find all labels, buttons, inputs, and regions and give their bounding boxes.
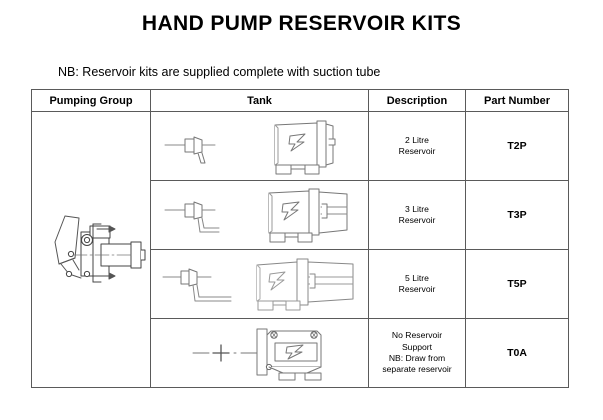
tank-2-litre (275, 121, 335, 174)
description-cell: 2 Litre Reservoir (369, 112, 466, 181)
suction-tube-short (165, 137, 215, 163)
centreline-and-mounting-bracket-drawing (151, 319, 368, 387)
tank-cell (151, 250, 369, 319)
tank-cell (151, 181, 369, 250)
column-header-description: Description (369, 90, 466, 112)
hand-pump-assembly-drawing (32, 112, 150, 387)
table-row: 2 Litre Reservoir T2P (32, 112, 569, 181)
tank-5-litre (257, 259, 353, 310)
tank-cell (151, 319, 369, 388)
suction-tube-long (163, 269, 231, 301)
description-cell: 5 Litre Reservoir (369, 250, 466, 319)
description-line: NB: Draw from (389, 353, 445, 363)
mounting-bracket (257, 329, 321, 380)
reservoir-kits-table: Pumping Group Tank Description Part Numb… (31, 89, 569, 388)
description-line: 3 Litre (405, 204, 429, 214)
part-number-cell: T2P (466, 112, 569, 181)
description-line: 2 Litre (405, 135, 429, 145)
column-header-part-number: Part Number (466, 90, 569, 112)
tank-cell (151, 112, 369, 181)
description-line: 5 Litre (405, 273, 429, 283)
description-line: Support (402, 342, 432, 352)
description-line: Reservoir (399, 215, 436, 225)
page-title: HAND PUMP RESERVOIR KITS (0, 12, 603, 36)
description-line: Reservoir (399, 146, 436, 156)
column-header-tank: Tank (151, 90, 369, 112)
description-line: No Reservoir (392, 330, 442, 340)
suction-tube-medium-and-3-litre-tank-drawing (151, 181, 368, 249)
part-number-cell: T0A (466, 319, 569, 388)
column-header-pumping-group: Pumping Group (32, 90, 151, 112)
description-line: separate reservoir (382, 364, 451, 374)
note-text: NB: Reservoir kits are supplied complete… (58, 65, 380, 79)
description-line: Reservoir (399, 284, 436, 294)
suction-tube-medium (165, 202, 219, 232)
centreline-cross-mark (193, 345, 257, 361)
description-cell: 3 Litre Reservoir (369, 181, 466, 250)
pumping-group-cell (32, 112, 151, 388)
table-header-row: Pumping Group Tank Description Part Numb… (32, 90, 569, 112)
suction-tube-short-and-2-litre-tank-drawing (151, 112, 368, 180)
tank-3-litre (269, 189, 347, 242)
suction-tube-long-and-5-litre-tank-drawing (151, 250, 368, 318)
part-number-cell: T3P (466, 181, 569, 250)
description-cell: No Reservoir Support NB: Draw from separ… (369, 319, 466, 388)
part-number-cell: T5P (466, 250, 569, 319)
